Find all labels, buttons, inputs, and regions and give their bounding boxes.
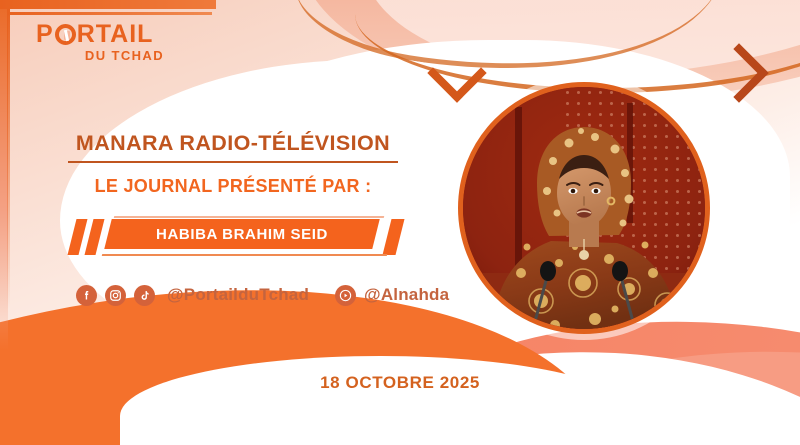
news-presenter-card: P RTAIL DU TCHAD MANARA RADIO-TÉLÉVISION… (0, 0, 800, 445)
logo-subtitle: DU TCHAD (36, 48, 166, 63)
logo-o-icon (55, 24, 76, 45)
page-subtitle: LE JOURNAL PRÉSENTÉ PAR : (68, 176, 398, 197)
decorative-frame-left (7, 9, 10, 309)
instagram-icon[interactable] (105, 285, 126, 306)
banner-slash-decor (68, 219, 88, 255)
banner-underline (102, 254, 387, 256)
logo: P RTAIL DU TCHAD (36, 22, 166, 63)
social-handle-primary[interactable]: @PortailduTchad (167, 285, 309, 305)
decorative-top-bar (0, 0, 216, 9)
logo-letters-rtail: RTAIL (77, 22, 154, 47)
presenter-banner: HABIBA BRAHIM SEID (70, 216, 415, 262)
banner-slash-decor (383, 219, 405, 255)
logo-wordmark: P RTAIL (36, 22, 166, 47)
facebook-icon[interactable] (76, 285, 97, 306)
page-title: MANARA RADIO-TÉLÉVISION (68, 131, 398, 163)
banner-slash-decor (85, 219, 105, 255)
logo-letter-p: P (36, 22, 54, 47)
social-handle-secondary[interactable]: @Alnahda (364, 285, 449, 305)
tiktok-icon[interactable] (134, 285, 155, 306)
presenter-photo (458, 82, 710, 334)
banner-top-rule (114, 216, 384, 218)
social-row: @PortailduTchad @Alnahda (76, 283, 449, 307)
decorative-frame-top (7, 12, 212, 15)
broadcast-date: 18 OCTOBRE 2025 (0, 373, 800, 393)
presenter-name: HABIBA BRAHIM SEID (108, 219, 376, 249)
youtube-icon[interactable] (335, 285, 356, 306)
